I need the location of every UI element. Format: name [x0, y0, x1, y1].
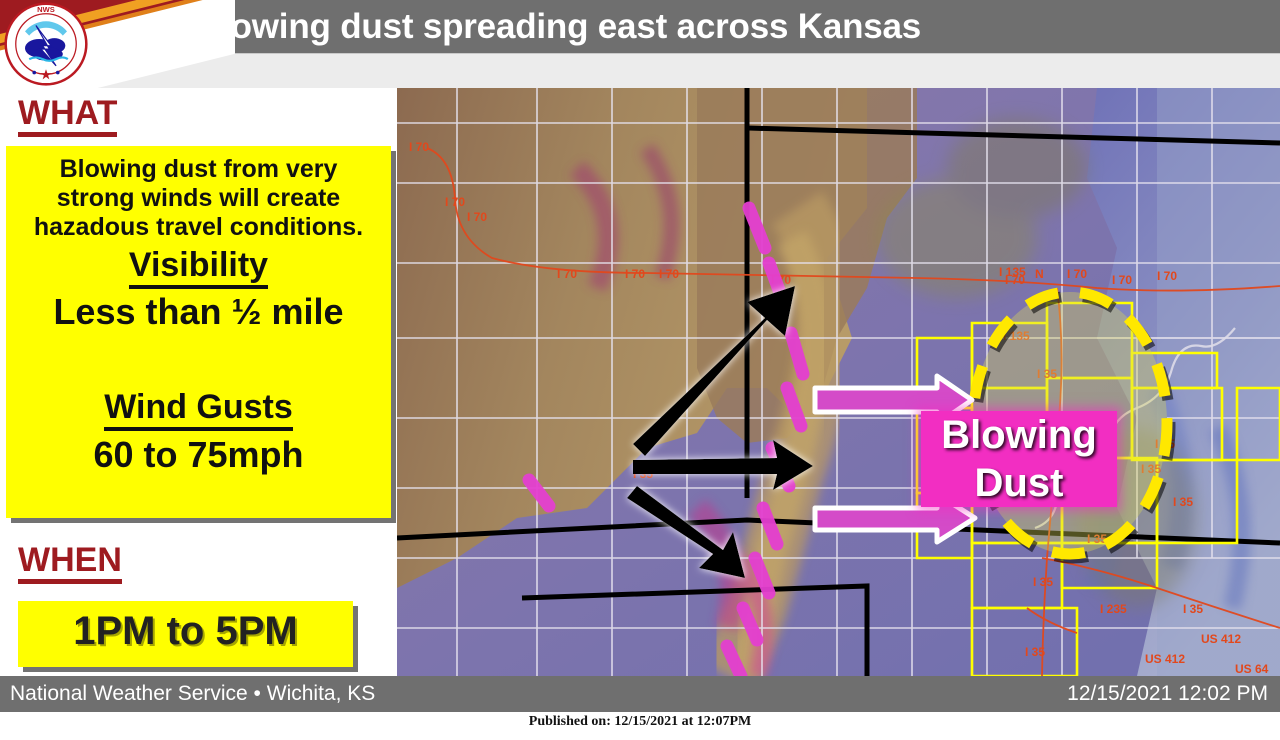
svg-text:NWS: NWS: [37, 5, 55, 14]
satellite-map: I 70 I 70 I 70 I 70 I 70 I 70 I 70 I 70 …: [397, 88, 1280, 676]
what-line-3: hazadous travel conditions.: [6, 213, 391, 242]
wind-gusts-label: Wind Gusts: [6, 388, 391, 427]
svg-text:I 70: I 70: [409, 140, 429, 154]
visibility-label: Visibility: [6, 246, 391, 285]
svg-text:I 70: I 70: [1157, 269, 1177, 283]
blowing-dust-line-2: Dust: [921, 459, 1117, 507]
blowing-dust-label: Blowing Dust: [921, 411, 1117, 507]
svg-text:I 70: I 70: [557, 267, 577, 281]
svg-text:I 70: I 70: [1067, 267, 1087, 281]
map-graphics: I 70 I 70 I 70 I 70 I 70 I 70 I 70 I 70 …: [397, 88, 1280, 676]
when-heading: WHEN: [18, 543, 122, 584]
when-value: 1PM to 5PM: [18, 609, 353, 654]
svg-text:I 70: I 70: [659, 267, 679, 281]
svg-text:I 35: I 35: [1183, 602, 1203, 616]
blowing-dust-line-1: Blowing: [921, 411, 1117, 459]
svg-text:I 70: I 70: [467, 210, 487, 224]
svg-text:I 70: I 70: [445, 195, 465, 209]
what-line-1: Blowing dust from very: [6, 155, 391, 184]
office-label: National Weather Service • Wichita, KS: [10, 680, 375, 708]
published-line: Published on: 12/15/2021 at 12:07PM: [0, 714, 1280, 730]
svg-text:I 235: I 235: [1100, 602, 1127, 616]
svg-text:I 70: I 70: [1112, 273, 1132, 287]
svg-text:I 35: I 35: [1025, 645, 1045, 659]
svg-text:N: N: [1035, 267, 1044, 281]
svg-text:US 64: US 64: [1235, 662, 1269, 676]
footer-timestamp: 12/15/2021 12:02 PM: [1067, 680, 1268, 708]
visibility-value: Less than ½ mile: [6, 291, 391, 333]
svg-text:I 135: I 135: [999, 265, 1026, 279]
when-box: 1PM to 5PM: [18, 601, 353, 667]
footer-bar: National Weather Service • Wichita, KS 1…: [0, 676, 1280, 712]
svg-text:US 412: US 412: [1145, 652, 1185, 666]
what-line-2: strong winds will create: [6, 184, 391, 213]
page-title: Blowing dust spreading east across Kansa…: [196, 4, 1256, 50]
what-heading: WHAT: [18, 96, 117, 137]
svg-text:I 35: I 35: [1173, 495, 1193, 509]
weather-graphic: NWS Blowing dust spreading east across K…: [0, 0, 1280, 740]
svg-text:I 35: I 35: [1033, 575, 1053, 589]
what-box: Blowing dust from very strong winds will…: [6, 146, 391, 518]
svg-text:I 70: I 70: [625, 267, 645, 281]
info-panel: WHAT Blowing dust from very strong winds…: [0, 88, 397, 676]
nws-seal-icon: NWS: [4, 2, 88, 86]
wind-gusts-value: 60 to 75mph: [6, 434, 391, 476]
svg-text:US 412: US 412: [1201, 632, 1241, 646]
